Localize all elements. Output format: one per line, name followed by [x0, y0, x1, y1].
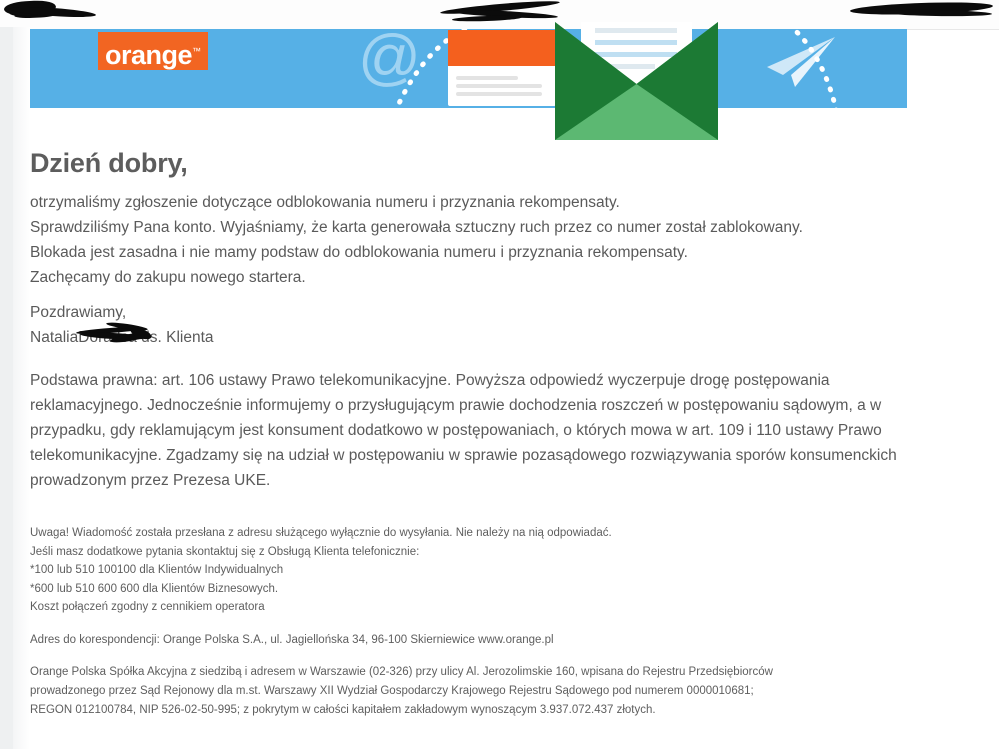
footer-notice-line: Uwaga! Wiadomość została przesłana z adr…	[30, 524, 612, 543]
orange-logo: orange™	[98, 32, 208, 70]
newsletter-card-line	[456, 84, 542, 88]
footer-notice-line: *100 lub 510 100100 dla Klientów Indywid…	[30, 561, 612, 580]
company-registration-info: Orange Polska Spółka Akcyjna z siedzibą …	[30, 663, 925, 720]
legal-paragraph: Podstawa prawna: art. 106 ustawy Prawo t…	[30, 368, 915, 493]
signature-line: NataliaDoradca ds. Klienta	[30, 325, 214, 350]
at-sign-icon: @	[358, 29, 421, 89]
window-top-strip	[0, 0, 999, 30]
page-left-gutter	[0, 27, 13, 749]
intro-line: Blokada jest zasadna i nie mamy podstaw …	[30, 240, 930, 265]
intro-paragraph: otrzymaliśmy zgłoszenie dotyczące odblok…	[30, 190, 930, 290]
page-title: Dzień dobry,	[30, 148, 188, 179]
footer-notice-line: Koszt połączeń zgodny z cennikiem operat…	[30, 598, 612, 617]
footer-notice: Uwaga! Wiadomość została przesłana z adr…	[30, 524, 612, 617]
paper-plane-icon	[765, 35, 855, 97]
signature-role: Doradca ds. Klienta	[78, 329, 213, 346]
company-line: prowadzonego przez Sąd Rejonowy dla m.st…	[30, 682, 925, 701]
signature-name: Natalia	[30, 329, 78, 346]
intro-line: Sprawdziliśmy Pana konto. Wyjaśniamy, że…	[30, 215, 930, 240]
email-page: orange™ @ Dzień dobr	[0, 0, 999, 749]
envelope-icon	[555, 22, 718, 140]
newsletter-card-icon	[448, 30, 556, 106]
intro-line: otrzymaliśmy zgłoszenie dotyczące odblok…	[30, 190, 930, 215]
company-line: Orange Polska Spółka Akcyjna z siedzibą …	[30, 663, 925, 682]
page-left-gutter-fade	[13, 27, 30, 749]
footer-notice-line: Jeśli masz dodatkowe pytania skontaktuj …	[30, 543, 612, 562]
footer-notice-line: *600 lub 510 600 600 dla Klientów Biznes…	[30, 580, 612, 599]
signature-block: Pozdrawiamy, NataliaDoradca ds. Klienta	[30, 300, 214, 350]
correspondence-address: Adres do korespondencji: Orange Polska S…	[30, 631, 554, 650]
newsletter-card-line	[456, 76, 518, 80]
company-line: REGON 012100784, NIP 526-02-50-995; z po…	[30, 701, 925, 720]
orange-logo-text: orange	[105, 40, 192, 70]
email-header-banner: orange™ @	[30, 29, 907, 108]
signoff-text: Pozdrawiamy,	[30, 300, 214, 325]
newsletter-card-header	[448, 30, 556, 66]
trademark-icon: ™	[192, 46, 201, 56]
intro-line: Zachęcamy do zakupu nowego startera.	[30, 265, 930, 290]
newsletter-card-line	[456, 92, 542, 96]
